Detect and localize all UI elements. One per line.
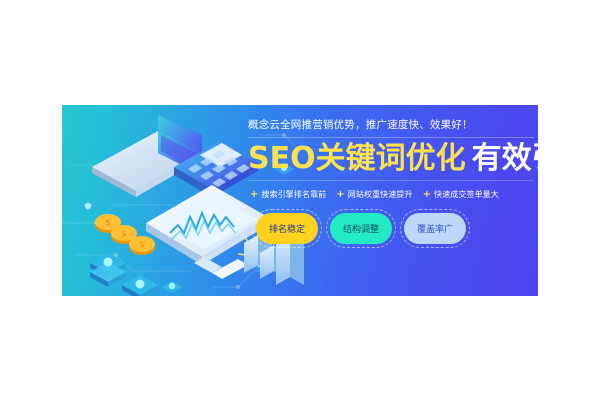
pill-badge-wide-coverage[interactable]: 覆盖率广	[404, 213, 466, 244]
coins-icon: $ $ $	[95, 214, 155, 255]
svg-text:$: $	[121, 229, 126, 238]
feature-item: + 网站权重快速提升	[336, 189, 412, 200]
headline-highlight: SEO关键词优化	[248, 141, 466, 176]
headline-rest: 有效引流	[472, 141, 538, 176]
pill-badge-structure-adjust[interactable]: 结构调整	[330, 213, 392, 244]
plus-icon: +	[250, 191, 258, 199]
pill-label: 覆盖率广	[417, 222, 453, 235]
server-stack-icon	[90, 253, 158, 296]
feature-list: + 搜索引擎排名靠前 + 网站权重快速提升 + 快速成交签单量大	[250, 189, 499, 200]
page-root: $ $ $	[0, 0, 600, 400]
plus-icon: +	[423, 191, 431, 199]
plus-icon: +	[336, 191, 344, 199]
feature-item: + 搜索引擎排名靠前	[250, 189, 326, 200]
laptop-icon	[92, 115, 202, 197]
svg-text:$: $	[105, 218, 110, 227]
pill-badge-ranking-stable[interactable]: 排名稳定	[256, 213, 318, 244]
headline-divider	[248, 180, 534, 181]
banner-subtitle: 概念云全网推营销优势，推广速度快、效果好！	[248, 117, 538, 132]
banner-headline: SEO关键词优化有效引流	[248, 142, 538, 176]
feature-item: + 快速成交签单量大	[423, 189, 499, 200]
pill-label: 排名稳定	[269, 222, 305, 235]
pill-badge-group: 排名稳定 结构调整 覆盖率广	[256, 213, 466, 244]
feature-label: 网站权重快速提升	[348, 189, 413, 200]
feature-label: 快速成交签单量大	[434, 189, 499, 200]
svg-text:$: $	[139, 240, 144, 249]
feature-label: 搜索引擎排名靠前	[261, 189, 326, 200]
subtitle-divider	[248, 137, 534, 138]
banner-copy: 概念云全网推营销优势，推广速度快、效果好！ SEO关键词优化有效引流 + 搜索引…	[248, 117, 538, 287]
pill-label: 结构调整	[343, 222, 379, 235]
seo-promo-banner[interactable]: $ $ $	[62, 105, 538, 296]
